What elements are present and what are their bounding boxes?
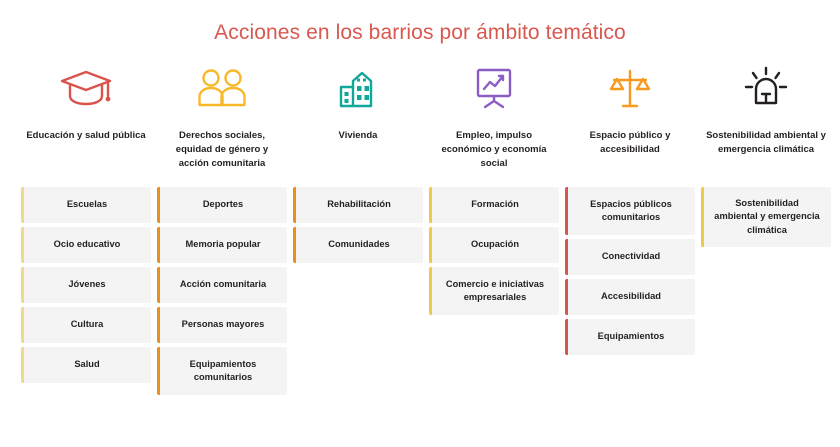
theme-column-heading: Derechos sociales, equidad de género y a…	[157, 129, 287, 185]
balance-scale-icon	[565, 57, 695, 119]
action-card[interactable]: Ocupación	[429, 227, 559, 263]
theme-column-heading: Sostenibilidad ambiental y emergencia cl…	[701, 129, 831, 185]
action-card[interactable]: Accesibilidad	[565, 279, 695, 315]
action-card[interactable]: Espacios públicos comunitarios	[565, 187, 695, 235]
action-card[interactable]: Rehabilitación	[293, 187, 423, 223]
action-card[interactable]: Comunidades	[293, 227, 423, 263]
action-card[interactable]: Conectividad	[565, 239, 695, 275]
action-card[interactable]: Equipamientos	[565, 319, 695, 355]
action-card[interactable]: Deportes	[157, 187, 287, 223]
theme-column-heading: Educación y salud pública	[21, 129, 151, 185]
theme-columns: Educación y salud públicaEscuelasOcio ed…	[12, 45, 828, 395]
action-card[interactable]: Memoria popular	[157, 227, 287, 263]
card-list: FormaciónOcupaciónComercio e iniciativas…	[429, 187, 559, 315]
action-card[interactable]: Formación	[429, 187, 559, 223]
theme-column-heading: Vivienda	[293, 129, 423, 185]
two-people-icon	[157, 57, 287, 119]
theme-column-espacio-publico: Espacio público y accesibilidadEspacios …	[562, 45, 698, 395]
theme-column-derechos-sociales: Derechos sociales, equidad de género y a…	[154, 45, 290, 395]
action-card[interactable]: Salud	[21, 347, 151, 383]
card-list: Sostenibilidad ambiental y emergencia cl…	[701, 187, 831, 247]
theme-column-heading: Empleo, impulso económico y economía soc…	[429, 129, 559, 185]
infographic-page: Acciones en los barrios por ámbito temát…	[0, 0, 840, 447]
action-card[interactable]: Acción comunitaria	[157, 267, 287, 303]
action-card[interactable]: Ocio educativo	[21, 227, 151, 263]
theme-column-vivienda: ViviendaRehabilitaciónComunidades	[290, 45, 426, 395]
theme-column-empleo-economia: Empleo, impulso económico y economía soc…	[426, 45, 562, 395]
theme-column-educacion-salud: Educación y salud públicaEscuelasOcio ed…	[18, 45, 154, 395]
presentation-chart-icon	[429, 57, 559, 119]
action-card[interactable]: Cultura	[21, 307, 151, 343]
theme-column-heading: Espacio público y accesibilidad	[565, 129, 695, 185]
card-list: EscuelasOcio educativoJóvenesCulturaSalu…	[21, 187, 151, 383]
action-card[interactable]: Escuelas	[21, 187, 151, 223]
graduation-cap-icon	[21, 57, 151, 119]
card-list: RehabilitaciónComunidades	[293, 187, 423, 263]
action-card[interactable]: Personas mayores	[157, 307, 287, 343]
buildings-icon	[293, 57, 423, 119]
card-list: DeportesMemoria popularAcción comunitari…	[157, 187, 287, 395]
theme-column-sostenibilidad: Sostenibilidad ambiental y emergencia cl…	[698, 45, 834, 395]
action-card[interactable]: Sostenibilidad ambiental y emergencia cl…	[701, 187, 831, 247]
action-card[interactable]: Equipamientos comunitarios	[157, 347, 287, 395]
action-card[interactable]: Jóvenes	[21, 267, 151, 303]
card-list: Espacios públicos comunitariosConectivid…	[565, 187, 695, 355]
lamp-light-icon	[701, 57, 831, 119]
page-title: Acciones en los barrios por ámbito temát…	[0, 0, 840, 45]
action-card[interactable]: Comercio e iniciativas empresariales	[429, 267, 559, 315]
